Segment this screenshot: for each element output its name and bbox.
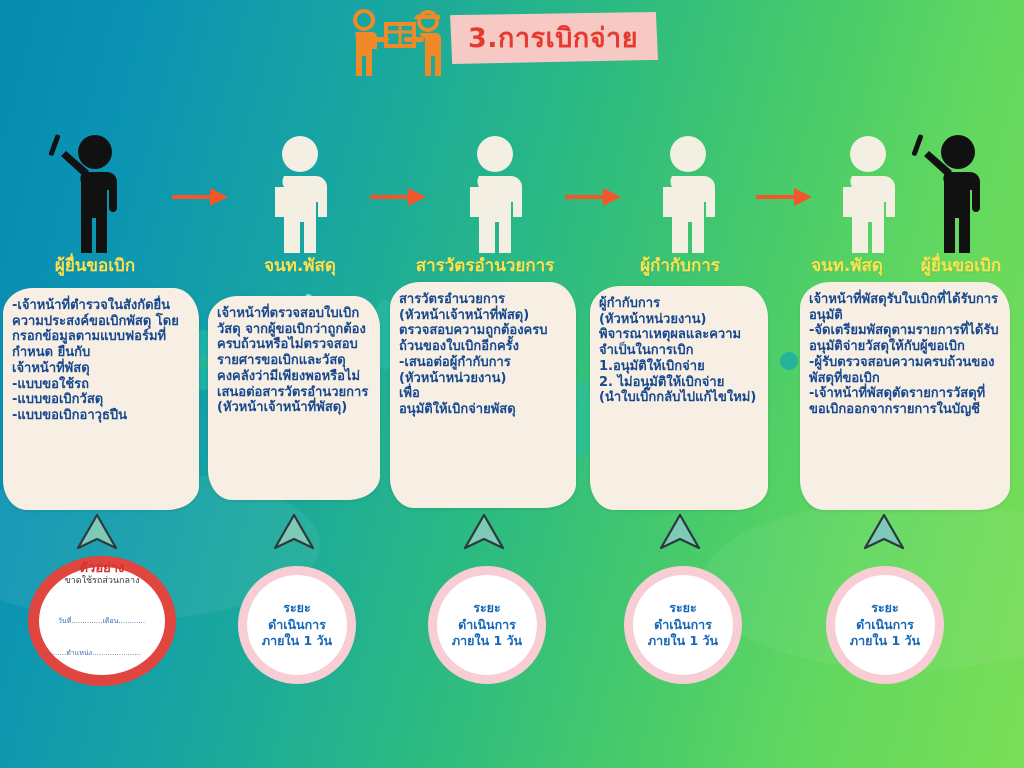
chevron-up-5 [862, 512, 906, 552]
content-text-step-3: สารวัตรอำนวยการ (หัวหน้าเจ้าหน้าที่พัสดุ… [399, 292, 567, 418]
sample-document-stamp: ตัวอย่าง ขาดใช้รถส่วนกลาง วันที่........… [28, 556, 176, 686]
page-title: 3.การเบิกจ่าย [468, 25, 638, 52]
duration-line-3: ภายใน 1 วัน [262, 633, 332, 650]
duration-line-2: ดำเนินการ [648, 617, 718, 634]
deco-dot-d [780, 352, 798, 370]
stamp-field-date: วันที่..............เดือน............ [58, 616, 145, 627]
figure-step-4 [628, 130, 748, 255]
duration-circle-2: ระยะ ดำเนินการ ภายใน 1 วัน [428, 566, 546, 684]
duration-line-2: ดำเนินการ [850, 617, 920, 634]
figure-step-3 [435, 130, 555, 255]
content-text-step-2: เจ้าหน้าที่ตรวจสอบใบเบิกวัสดุ จากผู้ขอเบ… [217, 306, 371, 416]
duration-line-3: ภายใน 1 วัน [648, 633, 718, 650]
content-bubble-step-5: เจ้าหน้าที่พัสดุรับใบเบิกที่ได้รับการอนุ… [800, 282, 1010, 510]
content-text-step-5: เจ้าหน้าที่พัสดุรับใบเบิกที่ได้รับการอนุ… [809, 292, 1001, 418]
duration-circle-4-text: ระยะ ดำเนินการ ภายใน 1 วัน [850, 600, 920, 650]
role-label-step-6: ผู้ยื่นขอเบิก [898, 258, 1024, 275]
duration-line-2: ดำเนินการ [452, 617, 522, 634]
duration-circle-1-text: ระยะ ดำเนินการ ภายใน 1 วัน [262, 600, 332, 650]
duration-circle-2-text: ระยะ ดำเนินการ ภายใน 1 วัน [452, 600, 522, 650]
figure-step-6 [898, 130, 1018, 255]
chevron-up-3 [462, 512, 506, 552]
duration-line-1: ระยะ [262, 600, 332, 617]
infographic-canvas: 3.การเบิกจ่าย [0, 0, 1024, 768]
duration-line-3: ภายใน 1 วัน [850, 633, 920, 650]
chevron-up-1 [75, 512, 119, 552]
duration-line-1: ระยะ [850, 600, 920, 617]
header: 3.การเบิกจ่าย [0, 0, 1024, 90]
duration-line-2: ดำเนินการ [262, 617, 332, 634]
arrow-4-to-5 [756, 186, 812, 208]
role-label-step-2: จนท.พัสดุ [215, 258, 385, 275]
duration-circle-3: ระยะ ดำเนินการ ภายใน 1 วัน [624, 566, 742, 684]
stamp-heading: ตัวอย่าง [28, 562, 176, 575]
role-label-step-4: ผู้กำกับการ [590, 258, 770, 275]
duration-line-3: ภายใน 1 วัน [452, 633, 522, 650]
arrow-1-to-2 [172, 186, 228, 208]
role-label-step-3: สารวัตรอำนวยการ [385, 258, 585, 275]
duration-circle-3-text: ระยะ ดำเนินการ ภายใน 1 วัน [648, 600, 718, 650]
duration-circle-1: ระยะ ดำเนินการ ภายใน 1 วัน [238, 566, 356, 684]
stamp-subheading: ขาดใช้รถส่วนกลาง [28, 577, 176, 586]
two-people-handing-box-icon [348, 6, 444, 78]
arrow-2-to-3 [370, 186, 426, 208]
duration-line-1: ระยะ [452, 600, 522, 617]
content-text-step-4: ผู้กำกับการ (หัวหน้าหน่วยงาน) พิจารณาเหต… [599, 296, 759, 406]
content-bubble-step-3: สารวัตรอำนวยการ (หัวหน้าเจ้าหน้าที่พัสดุ… [390, 282, 576, 508]
duration-circle-4: ระยะ ดำเนินการ ภายใน 1 วัน [826, 566, 944, 684]
chevron-up-2 [272, 512, 316, 552]
role-label-step-1: ผู้ยื่นขอเบิก [0, 258, 190, 275]
title-banner: 3.การเบิกจ่าย [448, 12, 658, 64]
figure-step-1 [35, 130, 155, 255]
content-bubble-step-1: -เจ้าหน้าที่ตำรวจในสังกัดยื่นความประสงค์… [3, 288, 199, 510]
content-bubble-step-2: เจ้าหน้าที่ตรวจสอบใบเบิกวัสดุ จากผู้ขอเบ… [208, 296, 380, 500]
chevron-up-4 [658, 512, 702, 552]
arrow-3-to-4 [565, 186, 621, 208]
stamp-field-position: ..........ตำแหน่ง...................... [44, 648, 141, 659]
content-bubble-step-4: ผู้กำกับการ (หัวหน้าหน่วยงาน) พิจารณาเหต… [590, 286, 768, 510]
duration-line-1: ระยะ [648, 600, 718, 617]
figure-step-2 [240, 130, 360, 255]
content-text-step-1: -เจ้าหน้าที่ตำรวจในสังกัดยื่นความประสงค์… [12, 298, 190, 424]
